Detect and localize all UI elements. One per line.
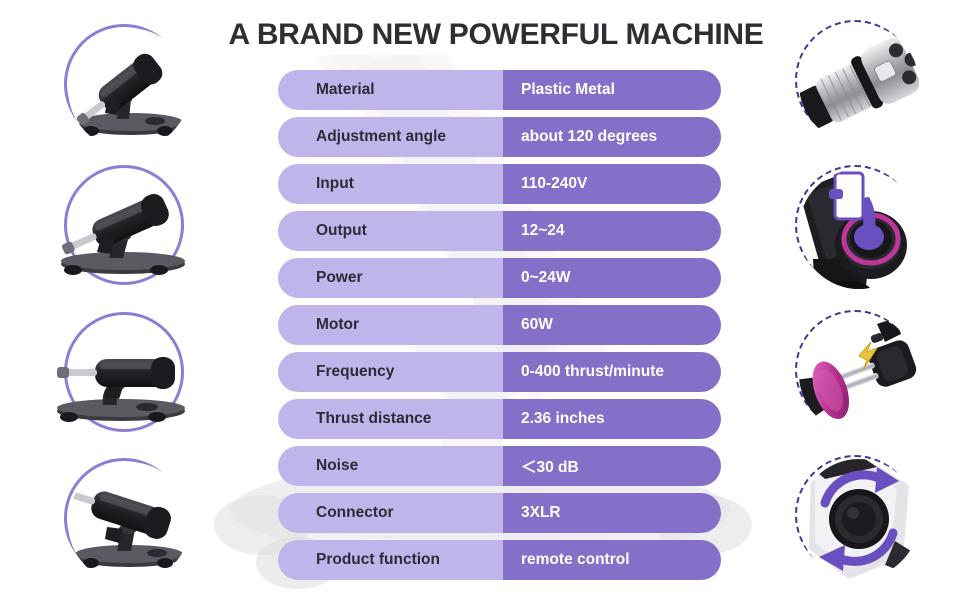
spec-label: Thrust distance <box>278 399 503 439</box>
spec-value: 2.36 inches <box>503 399 721 439</box>
product-spec-infographic: A BRAND NEW POWERFUL MACHINE Material Pl… <box>0 0 970 600</box>
spec-label: Input <box>278 164 503 204</box>
machine-steep-upward-angle-icon <box>55 15 203 163</box>
spec-value: 0~24W <box>503 258 721 298</box>
machine-steep-upward-angle-photo <box>64 24 184 144</box>
spec-value: 60W <box>503 305 721 345</box>
spec-value: 12~24 <box>503 211 721 251</box>
spec-label: Noise <box>278 446 503 486</box>
table-row: Product function remote control <box>278 540 721 580</box>
table-row: Thrust distance 2.36 inches <box>278 399 721 439</box>
machine-shallow-upward-angle-photo <box>64 165 184 285</box>
table-row: Noise ＜30 dB <box>278 446 721 486</box>
specification-table: Material Plastic Metal Adjustment angle … <box>278 70 721 587</box>
xlr-connector-icon <box>785 10 933 158</box>
suction-cup-mount-icon <box>785 155 933 303</box>
spec-label: Connector <box>278 493 503 533</box>
machine-shallow-upward-angle-icon <box>55 156 203 304</box>
spec-label: Motor <box>278 305 503 345</box>
table-row: Output 12~24 <box>278 211 721 251</box>
table-row: Adjustment angle about 120 degrees <box>278 117 721 157</box>
machine-horizontal-angle-photo <box>64 312 184 432</box>
table-row: Power 0~24W <box>278 258 721 298</box>
spec-value: about 120 degrees <box>503 117 721 157</box>
table-row: Input 110-240V <box>278 164 721 204</box>
spec-label: Material <box>278 70 503 110</box>
spec-value: 0-400 thrust/minute <box>503 352 721 392</box>
spec-value: ＜30 dB <box>503 446 721 486</box>
spec-label: Frequency <box>278 352 503 392</box>
spec-value: 110-240V <box>503 164 721 204</box>
quick-connect-shaft-photo <box>795 310 915 430</box>
table-row: Connector 3XLR <box>278 493 721 533</box>
machine-downward-angle-photo <box>64 458 184 578</box>
rotating-knob-photo <box>795 455 915 575</box>
spec-label: Output <box>278 211 503 251</box>
spec-label: Adjustment angle <box>278 117 503 157</box>
spec-value: 3XLR <box>503 493 721 533</box>
quick-connect-shaft-icon <box>785 300 933 448</box>
page-title: A BRAND NEW POWERFUL MACHINE <box>216 18 776 52</box>
table-row: Frequency 0-400 thrust/minute <box>278 352 721 392</box>
spec-label: Product function <box>278 540 503 580</box>
table-row: Material Plastic Metal <box>278 70 721 110</box>
machine-horizontal-angle-icon <box>55 303 203 451</box>
spec-label: Power <box>278 258 503 298</box>
spec-value: Plastic Metal <box>503 70 721 110</box>
xlr-connector-photo <box>795 20 915 140</box>
suction-cup-mount-photo <box>795 165 915 285</box>
table-row: Motor 60W <box>278 305 721 345</box>
machine-downward-angle-icon <box>55 449 203 597</box>
rotating-knob-icon <box>785 445 933 593</box>
spec-value: remote control <box>503 540 721 580</box>
